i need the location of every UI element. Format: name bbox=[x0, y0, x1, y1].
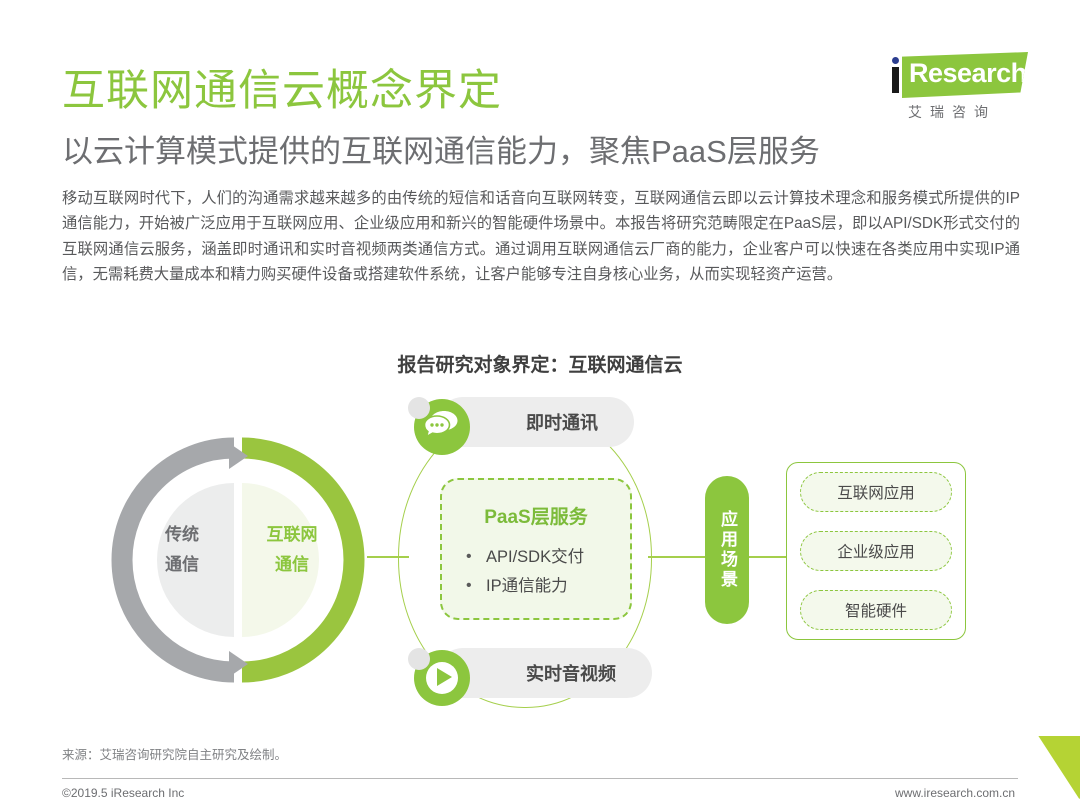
circle-label-internet: 互联网 通信 bbox=[253, 520, 331, 580]
source-note: 来源：艾瑞咨询研究院自主研究及绘制。 bbox=[62, 744, 287, 763]
application-scene-label: 应用场景 bbox=[716, 510, 738, 590]
footer-divider bbox=[62, 778, 1018, 779]
dual-ring-circle: 传统 通信 互联网 通信 bbox=[103, 425, 373, 695]
application-scene-pill: 应用场景 bbox=[705, 476, 749, 624]
paas-title: PaaS层服务 bbox=[442, 502, 630, 529]
page-title: 互联网通信云概念界定 bbox=[62, 56, 502, 118]
scenario-box: 互联网应用 企业级应用 智能硬件 bbox=[786, 462, 966, 640]
circle-label-traditional-l2: 通信 bbox=[143, 550, 221, 580]
corner-band-green-light bbox=[1025, 736, 1080, 799]
logo-chinese-name: 艾瑞咨询 bbox=[908, 102, 996, 122]
scenario-item: 互联网应用 bbox=[800, 472, 952, 512]
connector-line-right bbox=[648, 556, 705, 558]
logo-banner: Research bbox=[902, 52, 1028, 98]
paas-item: IP通信能力 bbox=[466, 572, 630, 601]
paas-item-list: API/SDK交付 IP通信能力 bbox=[466, 543, 630, 601]
paas-box: PaaS层服务 API/SDK交付 IP通信能力 bbox=[440, 478, 632, 620]
chat-bubble-icon bbox=[424, 409, 460, 439]
logo-wordmark: Research bbox=[909, 58, 1027, 89]
circle-label-internet-l2: 通信 bbox=[253, 550, 331, 580]
iresearch-logo: Research 艾瑞咨询 bbox=[878, 52, 1028, 124]
page-corner-decoration: 5 bbox=[994, 736, 1080, 810]
circle-label-traditional-l1: 传统 bbox=[143, 520, 221, 550]
page-subtitle: 以云计算模式提供的互联网通信能力，聚焦PaaS层服务 bbox=[62, 126, 820, 171]
paas-item: API/SDK交付 bbox=[466, 543, 630, 572]
page-number: 5 bbox=[1056, 778, 1067, 800]
play-circle-icon bbox=[437, 668, 452, 686]
logo-i-stem-icon bbox=[892, 67, 899, 93]
logo-mark: Research bbox=[878, 52, 1028, 98]
body-paragraph: 移动互联网时代下，人们的沟通需求越来越多的由传统的短信和话音向互联网转变，互联网… bbox=[62, 186, 1020, 288]
badge-rtc-accent-dot bbox=[408, 648, 430, 670]
footer-copyright: ©2019.5 iResearch Inc bbox=[62, 786, 184, 800]
badge-rtc-label: 实时音视频 bbox=[438, 648, 652, 698]
figure-title: 报告研究对象界定：互联网通信云 bbox=[0, 350, 1080, 377]
circle-label-traditional: 传统 通信 bbox=[143, 520, 221, 580]
scenario-item: 企业级应用 bbox=[800, 531, 952, 571]
logo-i-dot-icon bbox=[892, 57, 899, 64]
circle-label-internet-l1: 互联网 bbox=[253, 520, 331, 550]
diagram: 传统 通信 互联网 通信 PaaS层服务 API/SDK交付 IP通信能力 即时… bbox=[0, 390, 1080, 730]
slide-page: 互联网通信云概念界定 以云计算模式提供的互联网通信能力，聚焦PaaS层服务 Re… bbox=[0, 0, 1080, 810]
connector-line-scene bbox=[748, 556, 786, 558]
scenario-item: 智能硬件 bbox=[800, 590, 952, 630]
